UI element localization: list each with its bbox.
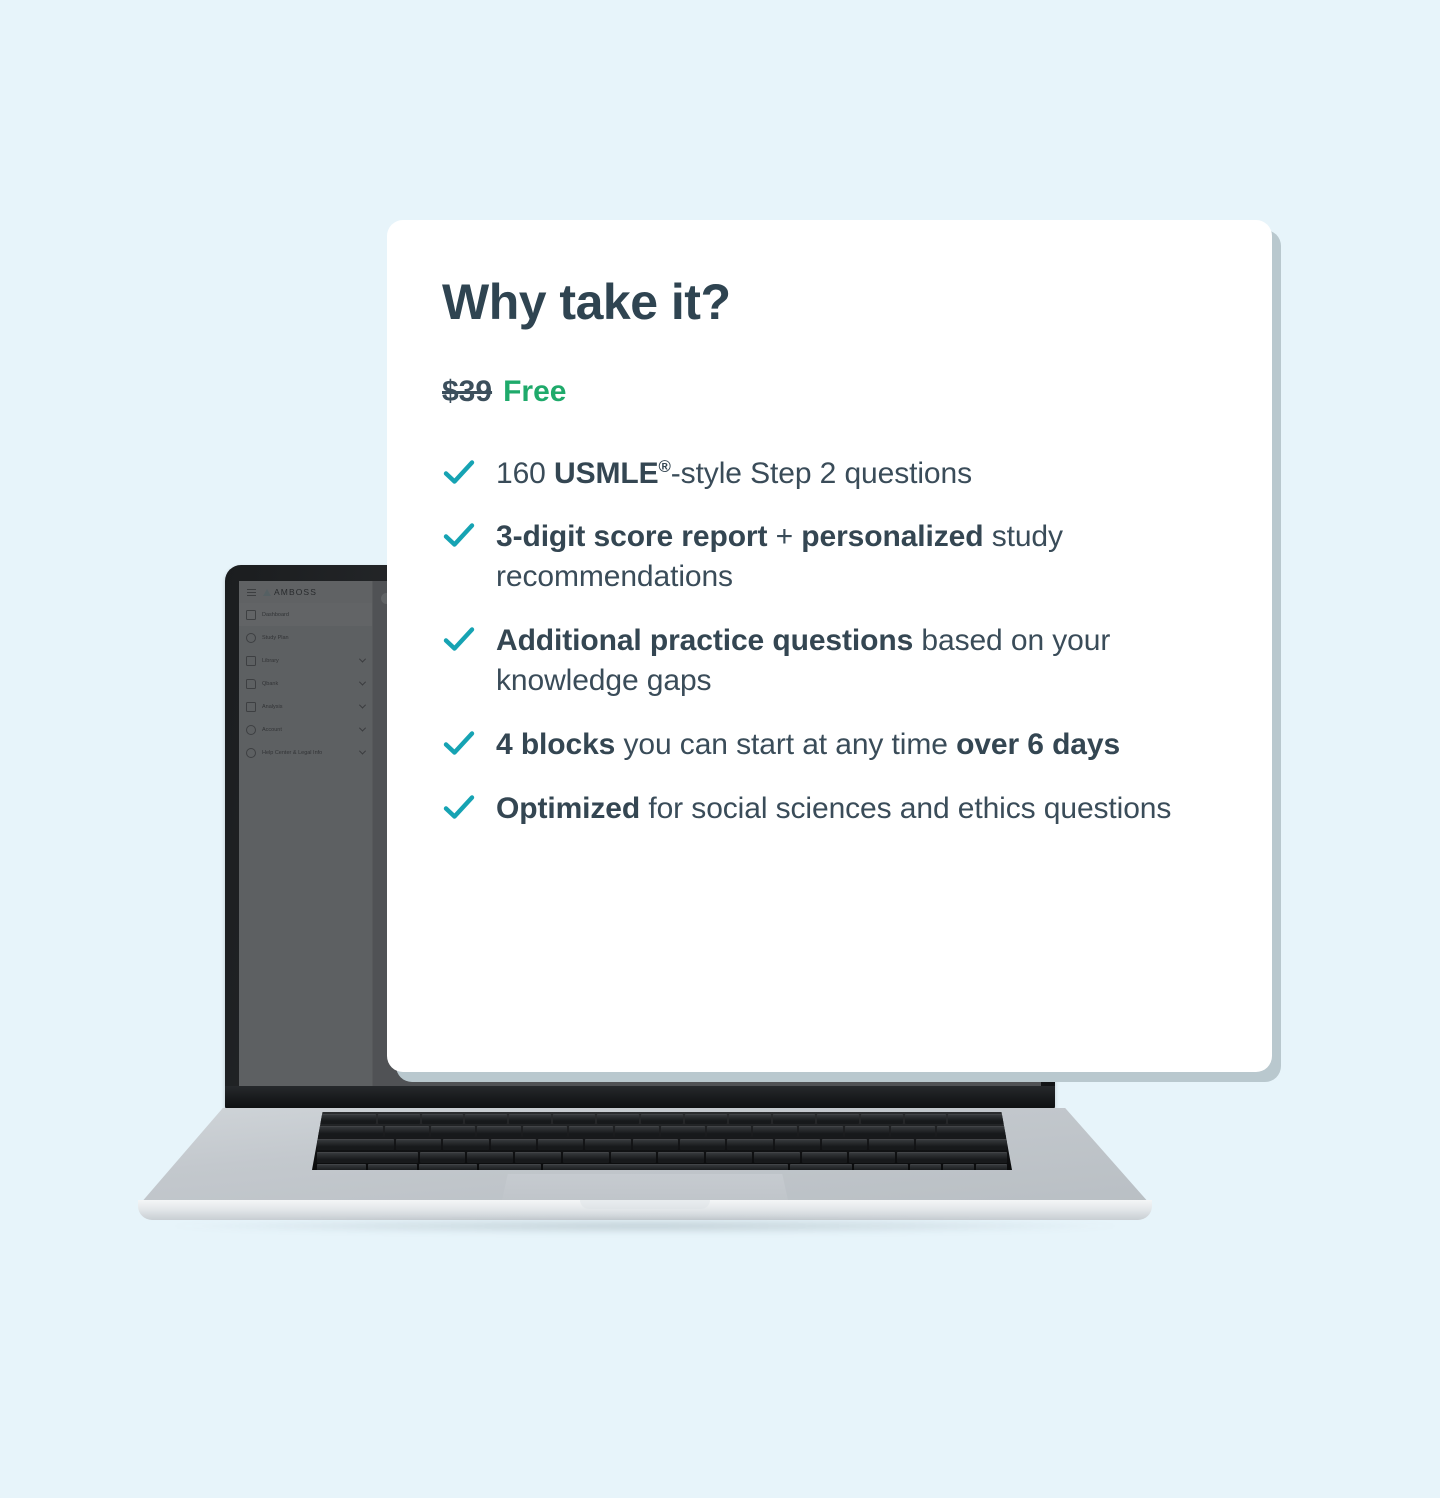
scene: AMBOSS Dashboard Study Plan: [0, 0, 1440, 1498]
page-title: Why take it?: [442, 276, 1210, 329]
benefit-text: 160 USMLE®-style Step 2 questions: [496, 454, 972, 494]
benefits-list: 160 USMLE®-style Step 2 questions 3-digi…: [442, 454, 1210, 829]
list-item: Additional practice questions based on y…: [442, 621, 1210, 701]
check-icon: [442, 456, 476, 490]
original-price: $39: [442, 377, 492, 407]
benefit-text: 4 blocks you can start at any time over …: [496, 725, 1120, 765]
why-take-it-card: Why take it? $39 Free 160 USMLE®-style S…: [387, 220, 1272, 1072]
benefit-text: Optimized for social sciences and ethics…: [496, 789, 1171, 829]
laptop-lid-chin: [225, 1086, 1055, 1110]
check-icon: [442, 519, 476, 553]
laptop-keyboard: [312, 1112, 1012, 1170]
list-item: Optimized for social sciences and ethics…: [442, 789, 1210, 829]
check-icon: [442, 727, 476, 761]
check-icon: [442, 623, 476, 657]
laptop-base: [140, 1108, 1150, 1226]
benefit-text: 3-digit score report + personalized stud…: [496, 517, 1210, 597]
list-item: 160 USMLE®-style Step 2 questions: [442, 454, 1210, 494]
benefit-text: Additional practice questions based on y…: [496, 621, 1210, 701]
list-item: 4 blocks you can start at any time over …: [442, 725, 1210, 765]
list-item: 3-digit score report + personalized stud…: [442, 517, 1210, 597]
price-row: $39 Free: [442, 377, 1210, 407]
laptop-front-notch: [580, 1200, 710, 1209]
current-price: Free: [503, 377, 566, 407]
check-icon: [442, 791, 476, 825]
laptop-drop-shadow: [170, 1218, 1120, 1234]
